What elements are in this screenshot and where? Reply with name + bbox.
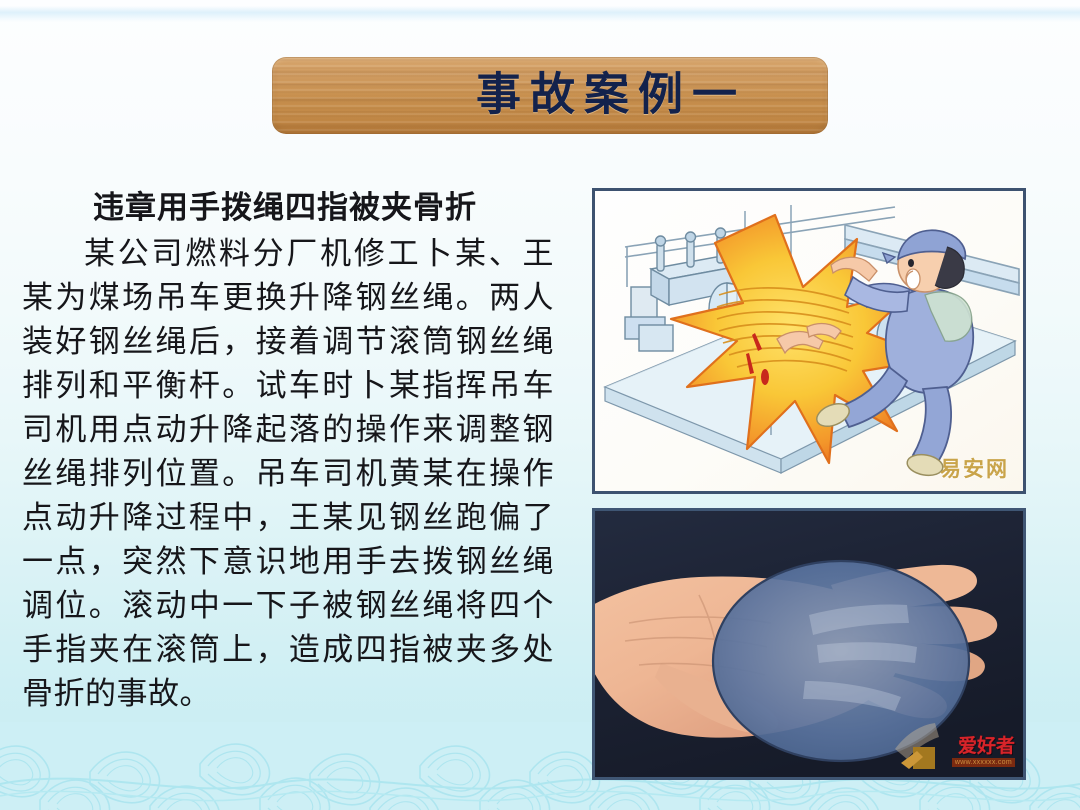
- title-plaque: 事故案例一: [272, 57, 828, 134]
- safety-illustration-image: [595, 191, 1023, 491]
- slide-root: 事故案例一 违章用手拨绳四指被夹骨折 某公司燃料分厂机修工卜某、王某为煤场吊车更…: [0, 0, 1080, 810]
- photo-watermark: 爱好者 www.xxxxxx.com: [952, 737, 1015, 767]
- case-body-paragraph: 某公司燃料分厂机修工卜某、王某为煤场吊车更换升降钢丝绳。两人装好钢丝绳后，接着调…: [8, 232, 568, 716]
- photo-watermark-url: www.xxxxxx.com: [952, 758, 1015, 767]
- page-title: 事故案例一: [272, 72, 800, 117]
- safety-illustration-frame: 易安网: [592, 188, 1026, 494]
- text-column: 违章用手拨绳四指被夹骨折 某公司燃料分厂机修工卜某、王某为煤场吊车更换升降钢丝绳…: [8, 188, 568, 716]
- photo-watermark-text: 爱好者: [958, 737, 1015, 756]
- injury-photo-frame: 爱好者 www.xxxxxx.com: [592, 508, 1026, 780]
- top-accent-band: [0, 6, 1080, 22]
- illustration-watermark: 易安网: [940, 453, 1009, 483]
- case-heading: 违章用手拨绳四指被夹骨折: [8, 188, 568, 228]
